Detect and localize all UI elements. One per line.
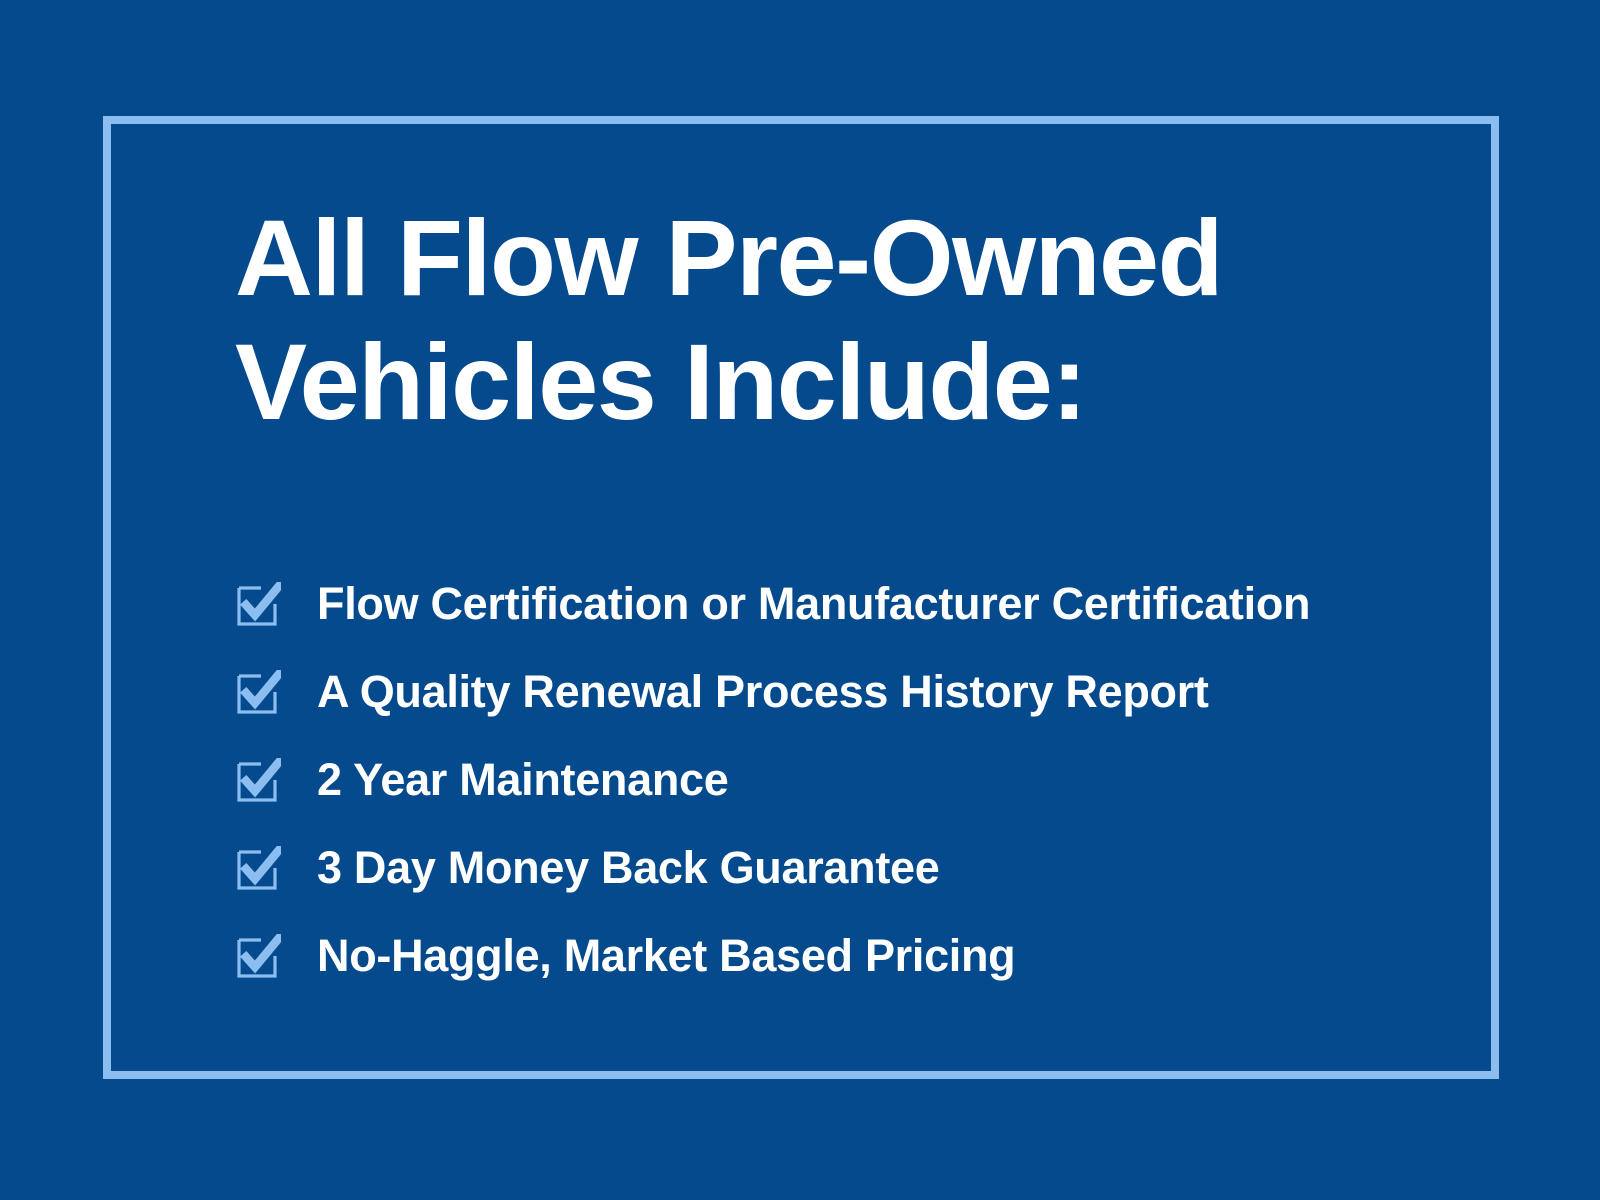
page-title-line-1: All Flow Pre-Owned bbox=[235, 196, 1495, 320]
list-item-label: 3 Day Money Back Guarantee bbox=[317, 843, 939, 893]
checked-checkbox-icon bbox=[235, 934, 281, 980]
list-item: No-Haggle, Market Based Pricing bbox=[235, 912, 1495, 1000]
page-title: All Flow Pre-Owned Vehicles Include: bbox=[235, 196, 1495, 444]
checked-checkbox-icon bbox=[235, 758, 281, 804]
benefits-list: Flow Certification or Manufacturer Certi… bbox=[235, 560, 1495, 1000]
list-item: 3 Day Money Back Guarantee bbox=[235, 824, 1495, 912]
checked-checkbox-icon bbox=[235, 846, 281, 892]
list-item-label: 2 Year Maintenance bbox=[317, 755, 729, 805]
list-item-label: No-Haggle, Market Based Pricing bbox=[317, 931, 1015, 981]
content-block: All Flow Pre-Owned Vehicles Include: Flo… bbox=[235, 196, 1495, 1000]
page-title-line-2: Vehicles Include: bbox=[235, 320, 1495, 444]
checked-checkbox-icon bbox=[235, 670, 281, 716]
promo-graphic: All Flow Pre-Owned Vehicles Include: Flo… bbox=[0, 0, 1600, 1200]
list-item-label: Flow Certification or Manufacturer Certi… bbox=[317, 579, 1310, 629]
list-item: Flow Certification or Manufacturer Certi… bbox=[235, 560, 1495, 648]
list-item: 2 Year Maintenance bbox=[235, 736, 1495, 824]
list-item: A Quality Renewal Process History Report bbox=[235, 648, 1495, 736]
checked-checkbox-icon bbox=[235, 582, 281, 628]
list-item-label: A Quality Renewal Process History Report bbox=[317, 667, 1209, 717]
